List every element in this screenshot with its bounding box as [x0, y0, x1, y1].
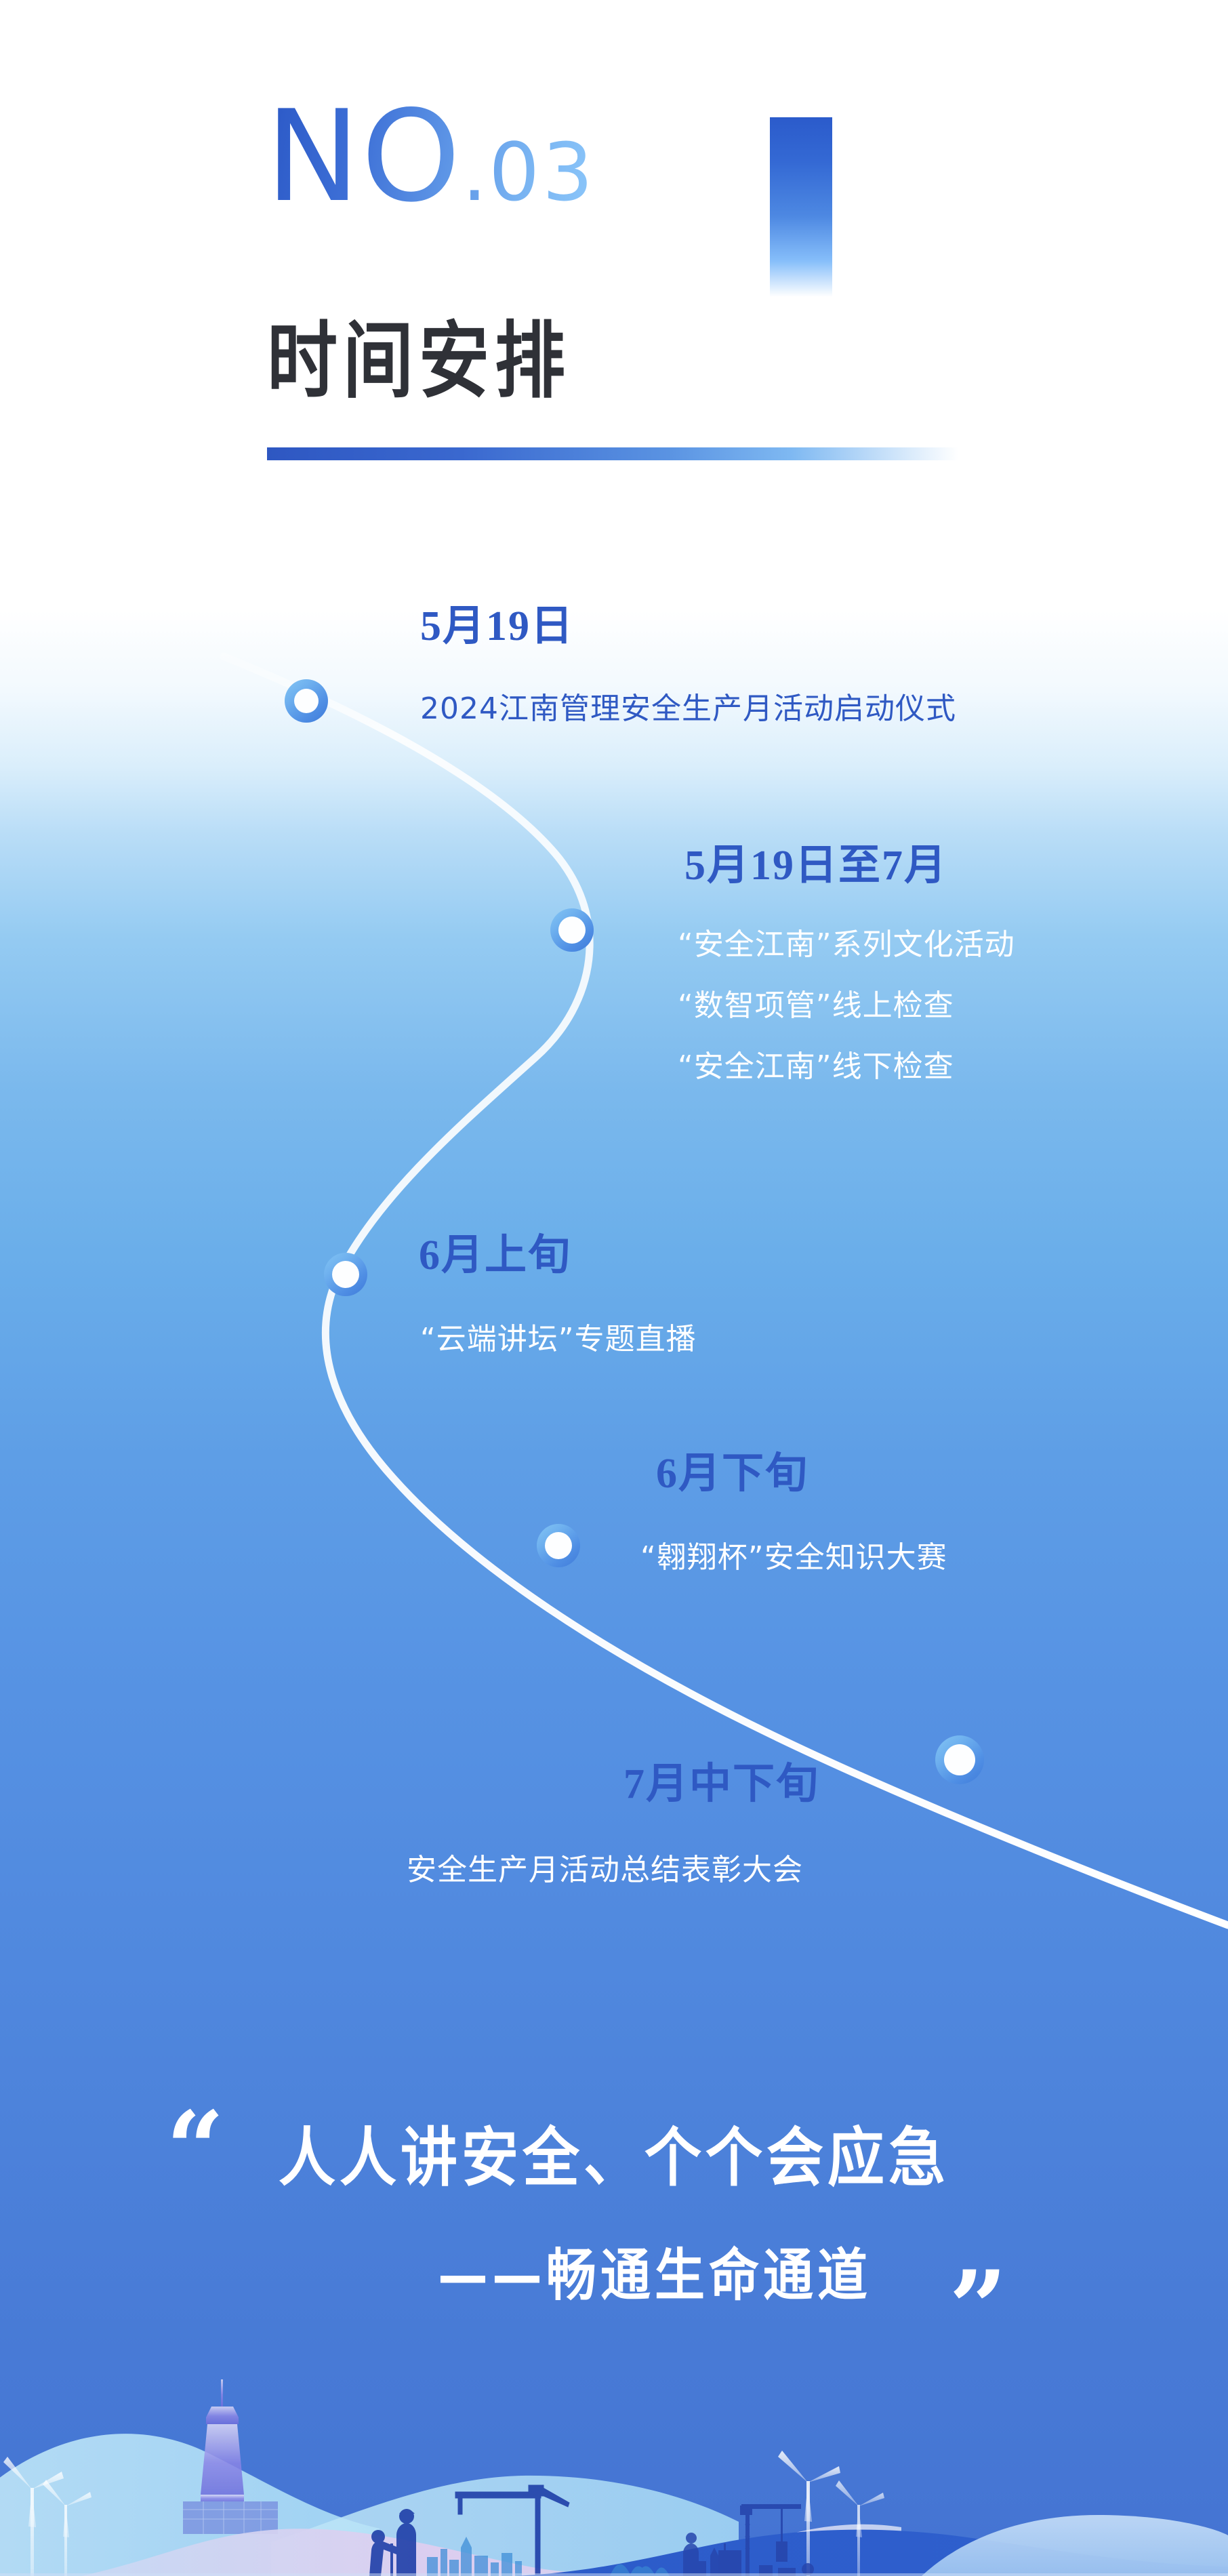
section-number-dot: .: [462, 125, 489, 219]
timeline-node-5[interactable]: [935, 1735, 984, 1784]
node-hole: [332, 1261, 359, 1288]
node-ring: [935, 1735, 984, 1784]
timeline-node-4[interactable]: [537, 1524, 580, 1567]
timeline-item-4-desc-line-1: “翱翔杯”安全知识大赛: [640, 1533, 947, 1582]
hill-right-pale: [922, 2515, 1228, 2576]
timeline-item-2-desc-line-2: “数智项管”线上检查: [678, 982, 954, 1030]
node-ring: [537, 1524, 580, 1567]
node-ring: [550, 908, 594, 952]
slogan-line-1: 人人讲安全、个个会应急: [0, 2107, 1228, 2199]
node-ring: [285, 679, 328, 723]
timeline-node-2[interactable]: [550, 908, 594, 952]
poster-root: NO.03 时间安排: [0, 0, 1228, 2576]
node-hole: [294, 689, 319, 713]
timeline-item-5-date: 7月中下旬: [623, 1761, 819, 1807]
section-number-prefix: NO: [266, 83, 462, 230]
timeline-item-5-desc-line-1: 安全生产月活动总结表彰大会: [407, 1846, 803, 1894]
timeline-item-3-desc-line-1: “云端讲坛”专题直播: [420, 1315, 697, 1363]
section-number-value: 03: [489, 125, 596, 219]
ground-line: [0, 2573, 1228, 2576]
timeline-item-3-date: 6月上旬: [419, 1232, 571, 1279]
slogan-block: 人人讲安全、个个会应急 ——畅通生命通道: [0, 2112, 1228, 2307]
page-title: 时间安排: [267, 318, 571, 405]
timeline-item-1-date: 5月19日: [420, 603, 574, 649]
node-ring: [324, 1253, 367, 1296]
timeline-node-1[interactable]: [285, 679, 328, 723]
section-number: NO.03: [266, 94, 596, 220]
timeline-item-1-desc-line-1: 2024江南管理安全生产月活动启动仪式: [420, 685, 956, 733]
timeline-item-2-desc-line-1: “安全江南”系列文化活动: [678, 921, 1015, 969]
footer-cityscape-illustration: [0, 2291, 1228, 2576]
header: NO.03 时间安排: [0, 0, 1228, 515]
node-hole: [545, 1532, 572, 1559]
timeline-node-3[interactable]: [324, 1253, 367, 1296]
timeline-item-2-desc-line-3: “安全江南”线下检查: [678, 1043, 954, 1091]
node-hole: [944, 1744, 975, 1775]
timeline-item-2-date: 5月19日至7月: [684, 843, 947, 889]
header-accent-bar: [770, 117, 832, 297]
timeline-item-4-date: 6月下旬: [656, 1451, 809, 1497]
node-hole: [558, 917, 586, 944]
title-underline-rule: [267, 447, 958, 460]
